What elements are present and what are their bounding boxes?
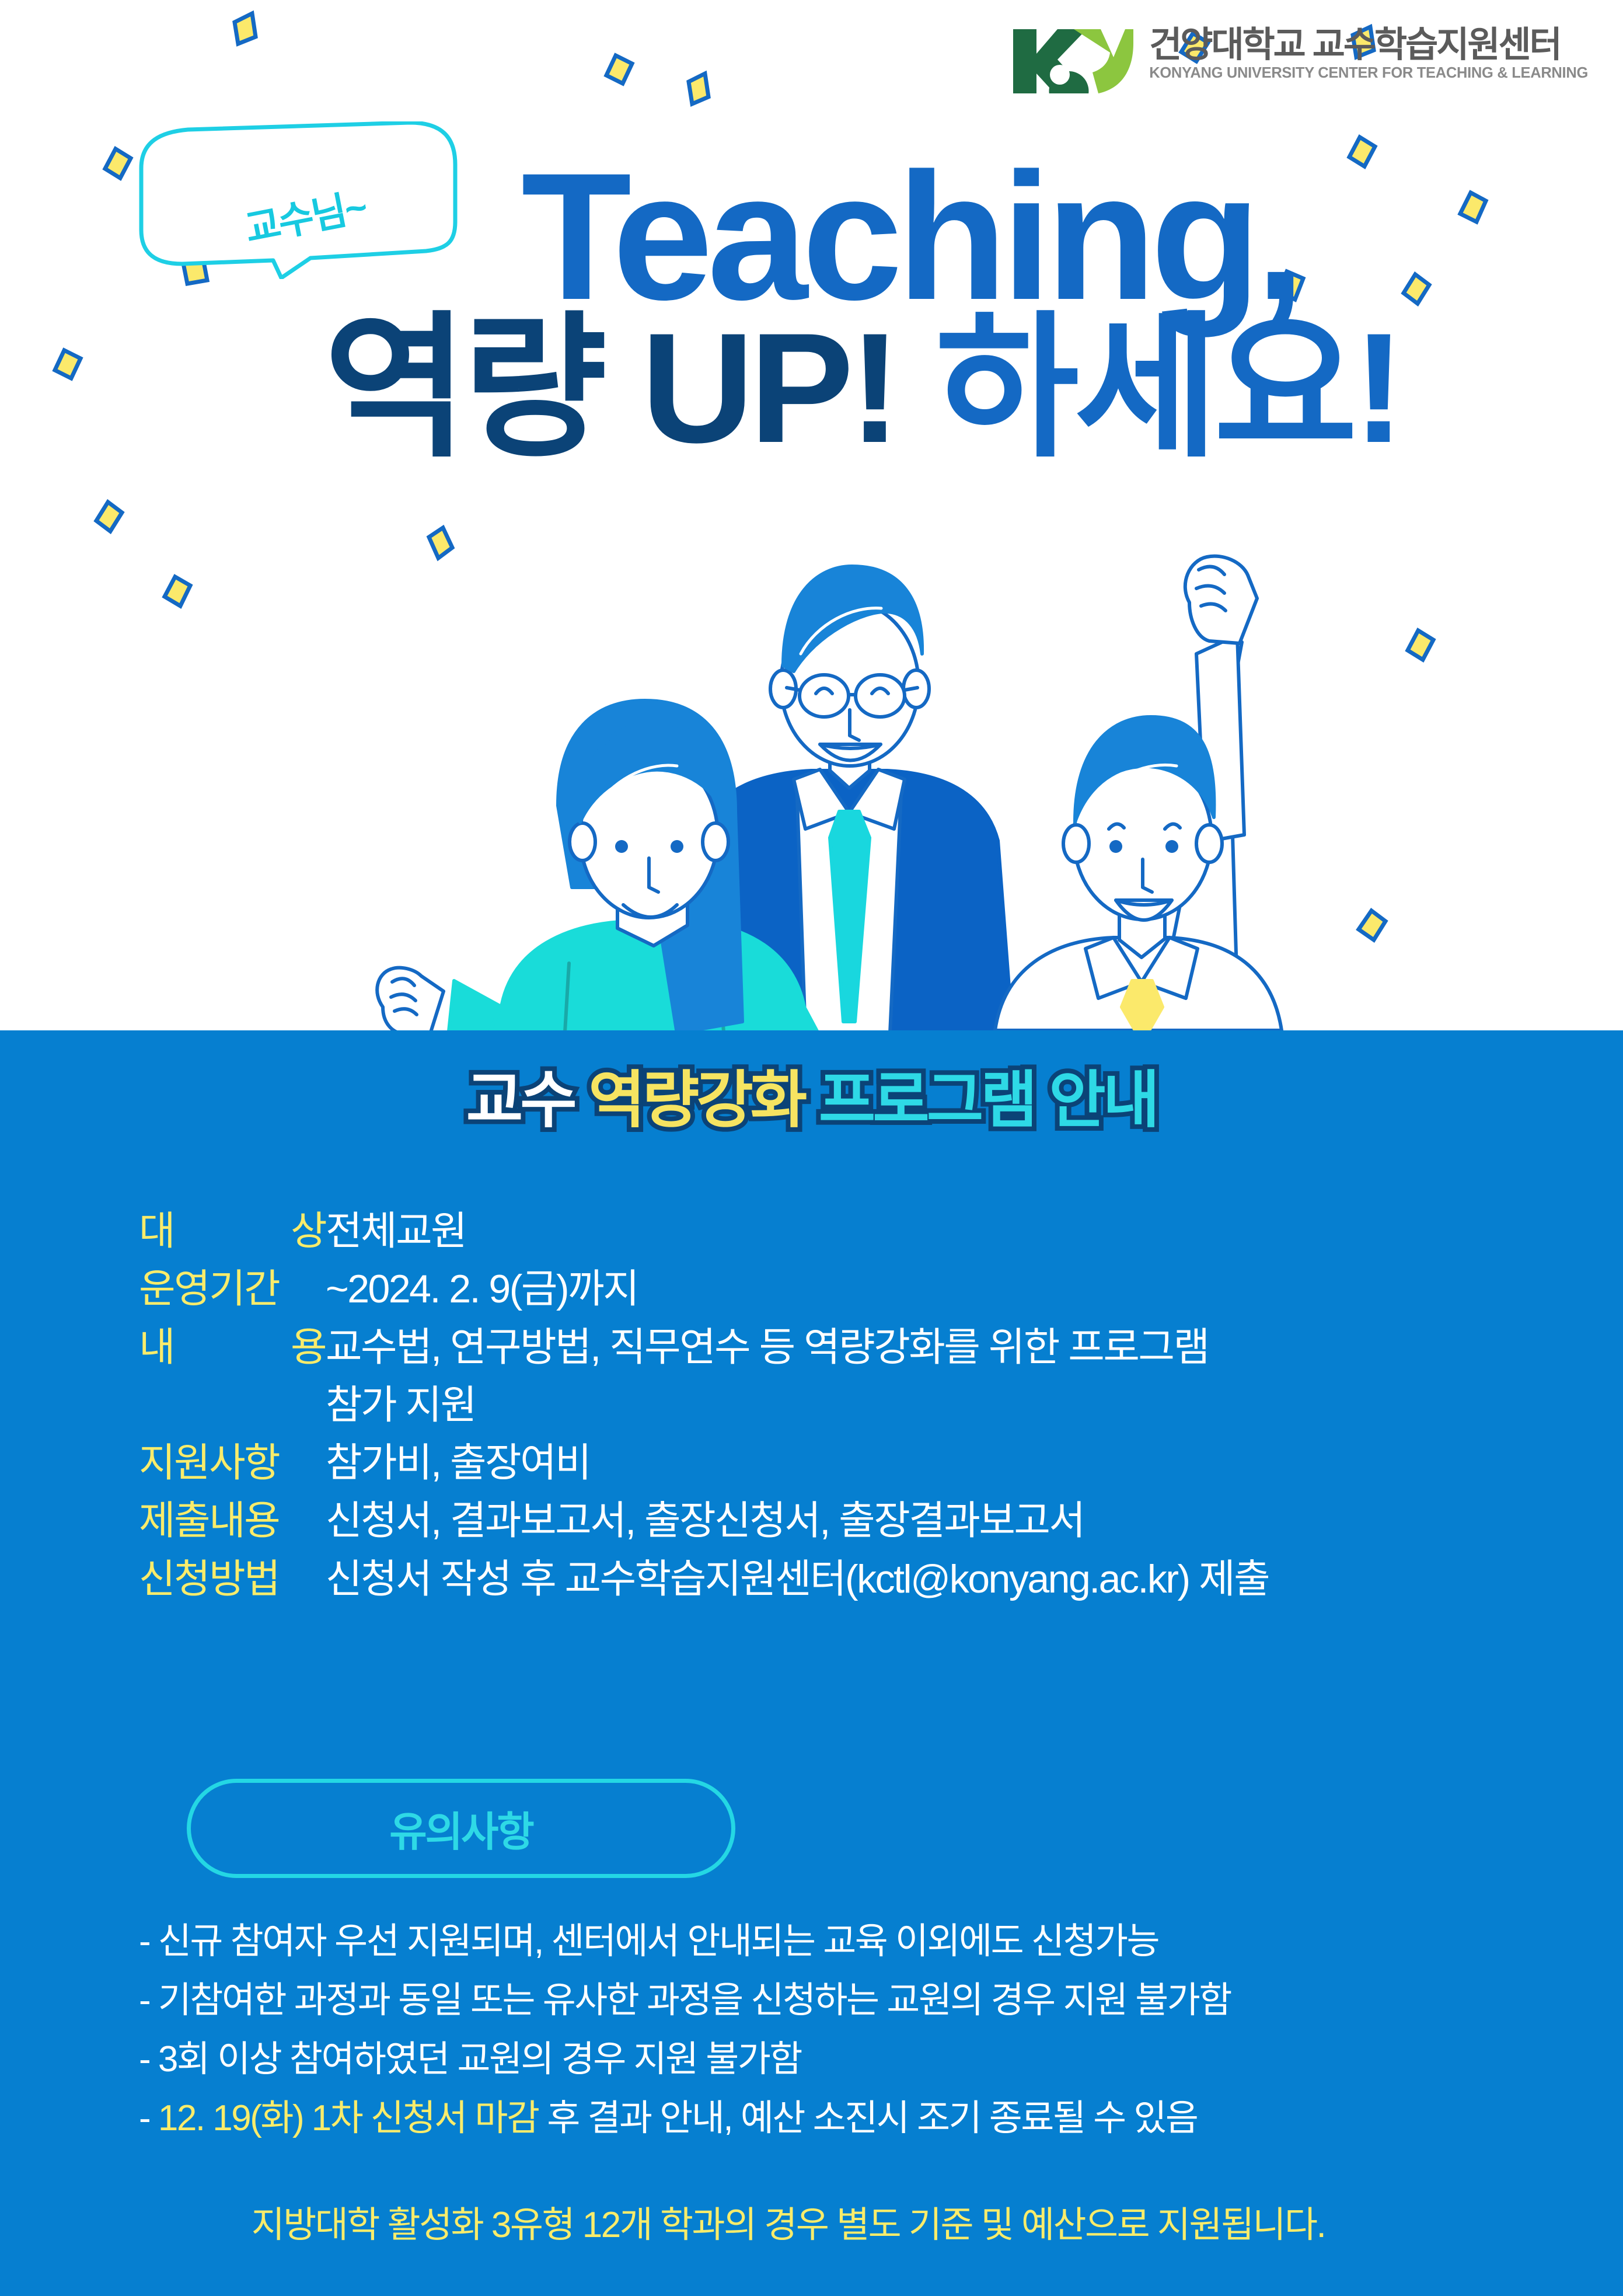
logo-english-text: KONYANG UNIVERSITY CENTER FOR TEACHING &… bbox=[1149, 66, 1588, 81]
detail-value-submission: 신청서, 결과보고서, 출장신청서, 출장결과보고서 bbox=[326, 1492, 1084, 1550]
detail-row-content: 내 용 교수법, 연구방법, 직무연수 등 역량강화를 위한 프로그램 bbox=[139, 1319, 1540, 1377]
detail-label-period: 운영기간 bbox=[139, 1260, 326, 1318]
notice-bullet-list: - 신규 참여자 우선 지원되며, 센터에서 안내되는 교육 이외에도 신청가능… bbox=[139, 1912, 1575, 2148]
program-info-section: 교수 역량강화 프로그램 안내 대 상 전체교원 운영기간 ~2024. 2. … bbox=[0, 1030, 1623, 2296]
detail-value-support: 참가비, 출장여비 bbox=[326, 1434, 590, 1492]
hero-section: 건양대학교 교수학습지원센터 KONYANG UNIVERSITY CENTER… bbox=[0, 0, 1623, 1030]
cheering-people-illustration bbox=[327, 479, 1354, 1030]
notice-footnote: 지방대학 활성화 3유형 12개 학과의 경우 별도 기준 및 예산으로 지원됩… bbox=[0, 2195, 1623, 2248]
headline-dark-part: 역량 UP! bbox=[324, 300, 896, 475]
notice-bullet-2: - 기참여한 과정과 동일 또는 유사한 과정을 신청하는 교원의 경우 지원 … bbox=[139, 1971, 1575, 2030]
notice-pill-label: 유의사항 bbox=[389, 1799, 533, 1858]
detail-label-target: 대 상 bbox=[139, 1203, 326, 1260]
detail-label-support: 지원사항 bbox=[139, 1434, 326, 1492]
program-title-part3: 프로그램 안내 bbox=[819, 1066, 1157, 1135]
logo-korean-text: 건양대학교 교수학습지원센터 bbox=[1149, 27, 1588, 62]
brand-logo: 건양대학교 교수학습지원센터 KONYANG UNIVERSITY CENTER… bbox=[1008, 22, 1588, 93]
bullet-4-highlight: 12. 19(화) 1차 신청서 마감 bbox=[158, 2098, 539, 2138]
detail-row-submission: 제출내용 신청서, 결과보고서, 출장신청서, 출장결과보고서 bbox=[139, 1492, 1540, 1550]
notice-bullet-4: - 12. 19(화) 1차 신청서 마감 후 결과 안내, 예산 소진시 조기… bbox=[139, 2089, 1575, 2148]
headline-light-part: 하세요! bbox=[936, 300, 1401, 475]
detail-label-content: 내 용 bbox=[139, 1319, 326, 1377]
notice-pill: 유의사항 bbox=[187, 1779, 735, 1878]
headline-line-2: 역량 UP! 하세요! bbox=[324, 309, 1401, 466]
detail-row-target: 대 상 전체교원 bbox=[139, 1203, 1540, 1260]
konyang-ky-logo-icon bbox=[1008, 25, 1134, 93]
program-detail-list: 대 상 전체교원 운영기간 ~2024. 2. 9(금)까지 내 용 교수법, … bbox=[139, 1203, 1540, 1608]
detail-value-period: ~2024. 2. 9(금)까지 bbox=[326, 1260, 638, 1318]
detail-row-support: 지원사항 참가비, 출장여비 bbox=[139, 1434, 1540, 1492]
detail-value-target: 전체교원 bbox=[326, 1203, 466, 1260]
bullet-4-suffix: 후 결과 안내, 예산 소진시 조기 종료될 수 있음 bbox=[538, 2098, 1197, 2138]
notice-bullet-3: - 3회 이상 참여하였던 교원의 경우 지원 불가함 bbox=[139, 2030, 1575, 2089]
detail-value-content-line2: 참가 지원 bbox=[139, 1377, 1540, 1434]
detail-value-application: 신청서 작성 후 교수학습지원센터(kctl@konyang.ac.kr) 제출 bbox=[326, 1551, 1269, 1608]
detail-row-application: 신청방법 신청서 작성 후 교수학습지원센터(kctl@konyang.ac.k… bbox=[139, 1551, 1540, 1608]
detail-label-application: 신청방법 bbox=[139, 1551, 326, 1608]
program-title-part2: 역량강화 bbox=[588, 1066, 804, 1135]
program-title: 교수 역량강화 프로그램 안내 bbox=[0, 1065, 1623, 1137]
speech-bubble: 교수님~ bbox=[135, 121, 486, 279]
notice-bullet-1: - 신규 참여자 우선 지원되며, 센터에서 안내되는 교육 이외에도 신청가능 bbox=[139, 1912, 1575, 1971]
detail-value-content: 교수법, 연구방법, 직무연수 등 역량강화를 위한 프로그램 bbox=[326, 1319, 1209, 1377]
program-title-part1: 교수 bbox=[466, 1066, 574, 1135]
bullet-4-prefix: - bbox=[139, 2098, 158, 2138]
detail-row-period: 운영기간 ~2024. 2. 9(금)까지 bbox=[139, 1260, 1540, 1318]
detail-label-submission: 제출내용 bbox=[139, 1492, 326, 1550]
